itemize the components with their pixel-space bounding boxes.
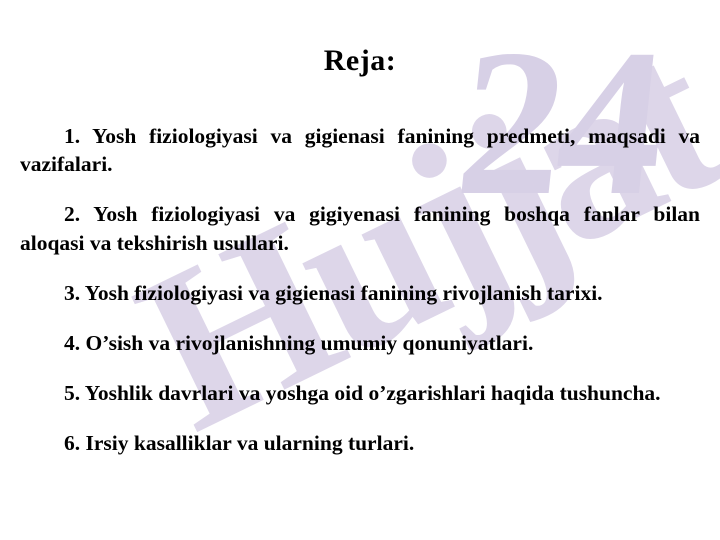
slide-content: Reja: 1. Yosh fiziologiyasi va gigienasi… xyxy=(0,0,720,458)
list-item: 5. Yoshlik davrlari va yoshga oid o’zgar… xyxy=(20,379,700,408)
page-title: Reja: xyxy=(0,0,720,78)
list-item: 1. Yosh fiziologiyasi va gigienasi fanin… xyxy=(20,122,700,179)
list-item: 6. Irsiy kasalliklar va ularning turlari… xyxy=(20,429,700,458)
list-item: 2. Yosh fiziologiyasi va gigiyenasi fani… xyxy=(20,200,700,257)
list-item: 4. O’sish va rivojlanishning umumiy qonu… xyxy=(20,329,700,358)
reja-list: 1. Yosh fiziologiyasi va gigienasi fanin… xyxy=(0,78,720,458)
slide: 24 Hujjat Reja: 1. Yosh fiziologiyasi va… xyxy=(0,0,720,540)
list-item: 3. Yosh fiziologiyasi va gigienasi fanin… xyxy=(20,279,700,308)
